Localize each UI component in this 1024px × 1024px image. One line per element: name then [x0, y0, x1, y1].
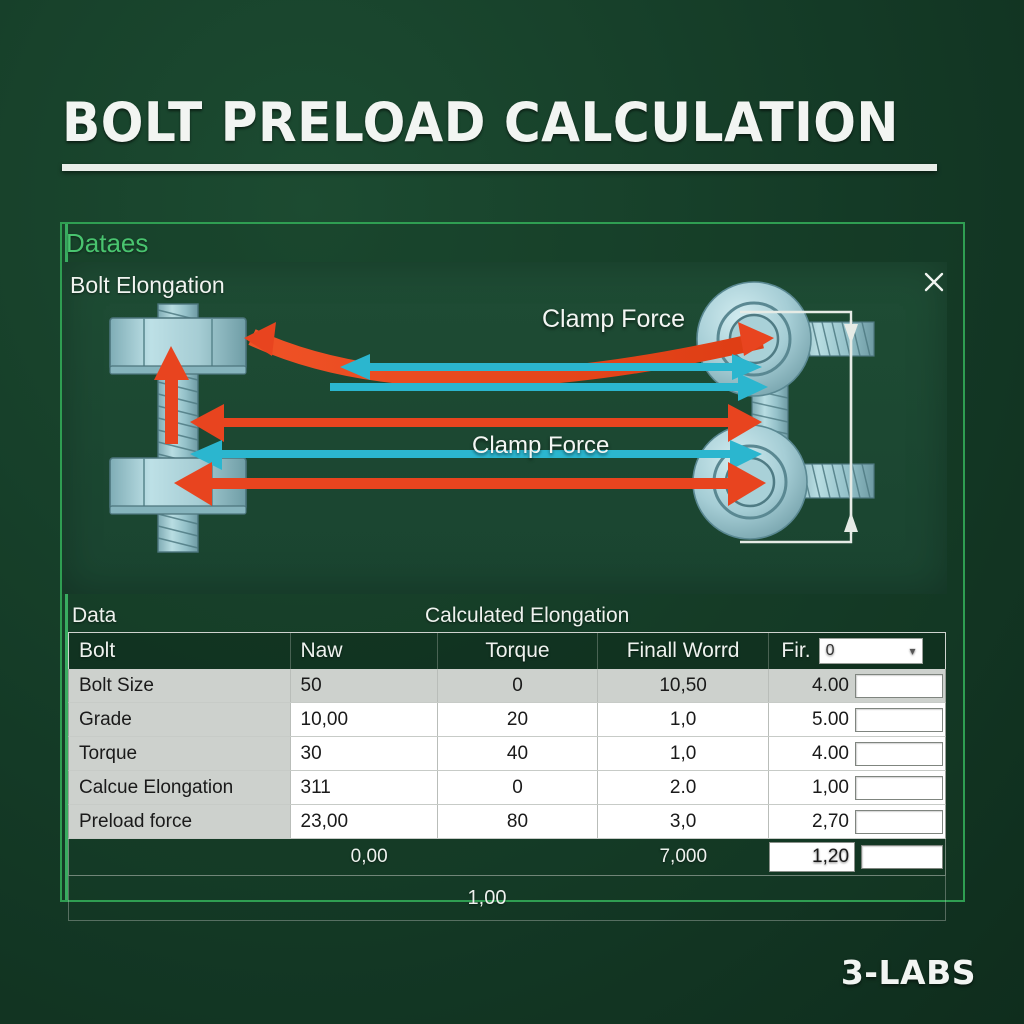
title-block: BOLT PRELOAD CALCULATION: [62, 96, 942, 171]
table-row[interactable]: Torque 30 40 1,0 4.00: [68, 737, 946, 771]
row-final: 10,50: [598, 669, 770, 702]
table-row[interactable]: Preload force 23,00 80 3,0 2,70: [68, 805, 946, 839]
row-final: 1,0: [598, 703, 770, 736]
row-fir-value: 2,70: [793, 811, 849, 833]
row-torque: 0: [438, 771, 598, 804]
row-torque: 0: [438, 669, 598, 702]
table-footer-row: 0,00 7,000 1,20: [68, 839, 946, 876]
close-icon[interactable]: [922, 270, 946, 294]
row-fir-value: 5.00: [793, 709, 849, 731]
right-washer-assembly: [693, 282, 874, 539]
row-label: Calcue Elongation: [69, 771, 291, 804]
row-input-field[interactable]: [855, 742, 943, 766]
title-underline: [62, 164, 937, 171]
table-caption-center: Calculated Elongation: [425, 604, 629, 628]
footer-col2: 0,00: [290, 839, 438, 875]
footer-col3: [438, 839, 598, 875]
row-input-field[interactable]: [855, 708, 943, 732]
row-fir: 1,00: [769, 771, 945, 804]
fir-dropdown[interactable]: 0 ▾: [819, 638, 923, 664]
table-total-row: 1,00: [68, 876, 946, 921]
row-label: Grade: [69, 703, 291, 736]
clamp-force-label-bottom: Clamp Force: [472, 432, 609, 460]
diagram-card: [62, 262, 947, 594]
row-naw: 23,00: [291, 805, 439, 838]
column-header-naw[interactable]: Naw: [291, 633, 439, 669]
dimension-arrow-up: [844, 512, 858, 532]
arrow-red-bottom: [174, 462, 766, 506]
table-header-row: Bolt Naw Torque Finall Worrd Fir. 0 ▾: [68, 632, 946, 669]
row-fir-value: 1,00: [793, 777, 849, 799]
row-torque: 20: [438, 703, 598, 736]
bolt-elongation-diagram: [62, 262, 947, 594]
row-label: Torque: [69, 737, 291, 770]
fir-dropdown-value: 0: [826, 642, 835, 660]
page-title: BOLT PRELOAD CALCULATION: [62, 96, 880, 150]
table-row[interactable]: Grade 10,00 20 1,0 5.00: [68, 703, 946, 737]
table-caption-left: Data: [72, 604, 116, 628]
row-naw: 50: [291, 669, 439, 702]
row-final: 3,0: [598, 805, 770, 838]
footer-col4: 7,000: [598, 839, 770, 875]
row-fir-value: 4.00: [793, 675, 849, 697]
row-input-field[interactable]: [855, 674, 943, 698]
column-header-fir-label: Fir.: [781, 639, 810, 663]
row-fir: 4.00: [769, 737, 945, 770]
row-naw: 311: [291, 771, 439, 804]
row-fir: 2,70: [769, 805, 945, 838]
row-input-field[interactable]: [855, 810, 943, 834]
data-table: Bolt Naw Torque Finall Worrd Fir. 0 ▾ Bo…: [68, 632, 946, 921]
clamp-force-label-top: Clamp Force: [542, 305, 685, 334]
row-torque: 80: [438, 805, 598, 838]
footer-input-field[interactable]: [861, 845, 943, 869]
footer-col5: 1,20: [769, 839, 945, 875]
table-row[interactable]: Bolt Size 50 0 10,50 4.00: [68, 669, 946, 703]
row-label: Preload force: [69, 805, 291, 838]
section-label: Dataes: [66, 228, 148, 259]
row-naw: 30: [291, 737, 439, 770]
chevron-down-icon: ▾: [910, 644, 916, 658]
brand-logo: 3-LABS: [841, 953, 976, 992]
row-label: Bolt Size: [69, 669, 291, 702]
row-fir: 4.00: [769, 669, 945, 702]
column-header-bolt[interactable]: Bolt: [69, 633, 291, 669]
column-header-torque[interactable]: Torque: [438, 633, 598, 669]
row-final: 2.0: [598, 771, 770, 804]
row-torque: 40: [438, 737, 598, 770]
column-header-fir: Fir. 0 ▾: [769, 633, 945, 669]
table-row[interactable]: Calcue Elongation 311 0 2.0 1,00: [68, 771, 946, 805]
column-header-final[interactable]: Finall Worrd: [598, 633, 770, 669]
row-fir-value: 4.00: [793, 743, 849, 765]
footer-value-box[interactable]: 1,20: [769, 842, 855, 872]
table-total-value: 1,00: [468, 887, 507, 910]
row-input-field[interactable]: [855, 776, 943, 800]
diagram-title: Bolt Elongation: [70, 272, 225, 299]
row-fir: 5.00: [769, 703, 945, 736]
row-final: 1,0: [598, 737, 770, 770]
footer-spacer: [69, 839, 290, 875]
row-naw: 10,00: [291, 703, 439, 736]
